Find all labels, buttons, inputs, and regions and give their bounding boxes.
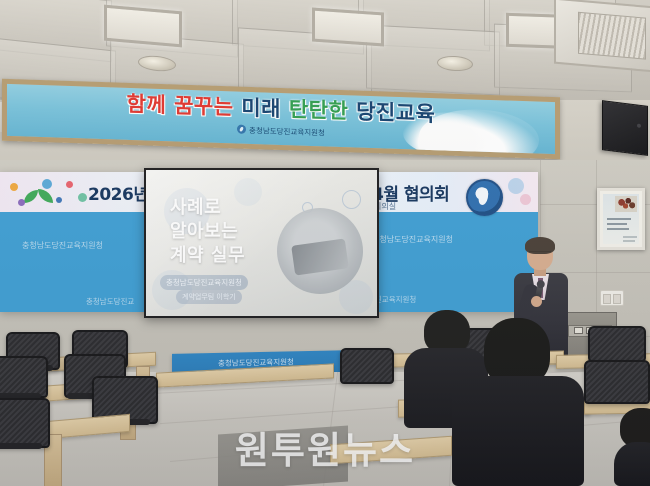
ceiling-light-panel-1: [104, 5, 182, 48]
poster-artwork: [615, 196, 637, 212]
screen-glare: [146, 170, 377, 316]
backdrop-year-label: 2026년: [88, 180, 148, 205]
backdrop-organization-right: 충청남도당진교육지원청: [372, 234, 453, 245]
backdrop-illustration: [2, 173, 94, 213]
wall-light-switch[interactable]: [600, 290, 624, 306]
presenter-glasses: [529, 251, 551, 257]
chair: [340, 348, 390, 380]
backdrop-organization-bottom-left: 충청남도당진교: [86, 296, 134, 307]
banner-word-4: 탄탄한: [289, 97, 356, 123]
framed-wall-poster: [597, 188, 645, 250]
dangjin-education-office-emblem-icon: [466, 179, 503, 216]
banner-word-3: 미래: [241, 96, 288, 122]
chair: [588, 326, 642, 358]
audience-member: [614, 408, 650, 486]
projection-screen: 사례로 알아보는 계약 실무 충청남도당진교육지원청 계약업무팀 이학기: [144, 168, 379, 318]
ceiling-light-panel-2: [312, 7, 384, 46]
top-banner-subtitle: 충청남도당진교육지원청: [249, 126, 325, 138]
banner-word-5: 당진교육: [356, 99, 435, 126]
education-office-logo-icon: [237, 125, 246, 134]
ceiling-air-conditioner: [554, 0, 650, 72]
banner-word-1: 함께: [127, 92, 174, 118]
chair: [584, 360, 646, 400]
presenter-hand: [531, 296, 542, 307]
floor-mat: [218, 425, 348, 486]
chair: [0, 398, 46, 444]
audience-member: [452, 318, 584, 486]
wall-speaker: [602, 100, 648, 156]
chair: [0, 356, 44, 394]
banner-word-2: 꿈꾸는: [174, 93, 241, 119]
meeting-room-photo: 함께 꿈꾸는 미래 탄탄한 당진교육 충청남도당진교육지원청: [0, 0, 650, 486]
backdrop-organization-left: 충청남도당진교육지원청: [22, 240, 103, 251]
